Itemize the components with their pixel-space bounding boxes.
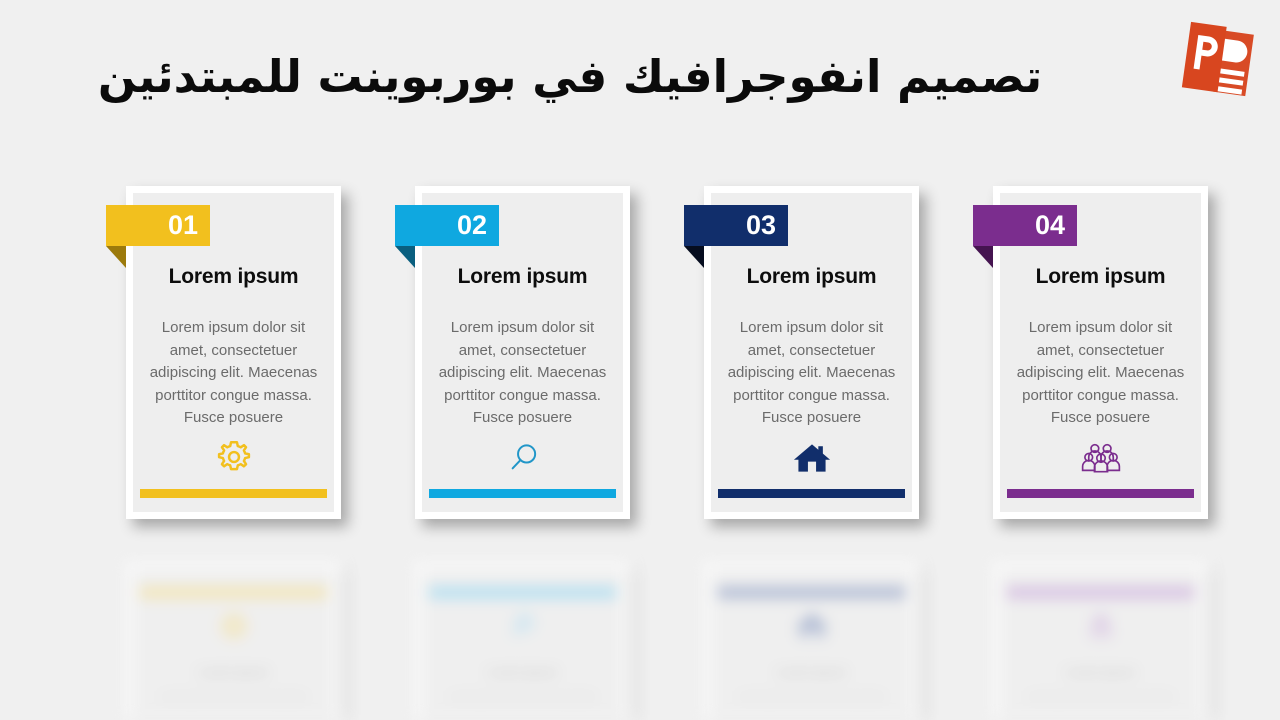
home-icon <box>711 436 912 476</box>
blurred-card-title: Lorem ipsum <box>133 667 334 679</box>
blurred-preview-row: Lorem ipsum Lorem ipsum dolor sit amet, … <box>0 556 1280 720</box>
card-accent-bar <box>1007 489 1194 498</box>
blurred-card-description: Lorem ipsum dolor sit amet, consectetuer <box>729 691 894 702</box>
card-number: 04 <box>1035 212 1065 239</box>
page-title: تصميم انفوجرافيك في بوربوينت للمبتدئين <box>0 50 1140 103</box>
ribbon-fold <box>395 246 415 268</box>
card-title: Lorem ipsum <box>711 265 912 289</box>
card-description: Lorem ipsum dolor sit amet, consectetuer… <box>434 317 611 430</box>
card-description: Lorem ipsum dolor sit amet, consectetuer… <box>1012 317 1189 430</box>
card-description: Lorem ipsum dolor sit amet, consectetuer… <box>723 317 900 430</box>
blurred-preview-card-2: Lorem ipsum Lorem ipsum dolor sit amet, … <box>415 562 630 720</box>
blurred-card-description: Lorem ipsum dolor sit amet, consectetuer <box>151 691 316 702</box>
blurred-accent-bar <box>429 587 616 598</box>
blurred-home-icon <box>711 609 912 641</box>
search-icon <box>422 436 623 476</box>
card-number-ribbon: 01 <box>106 205 210 246</box>
infographic-card-3[interactable]: Lorem ipsum Lorem ipsum dolor sit amet, … <box>704 186 919 519</box>
blurred-card-title: Lorem ipsum <box>422 667 623 679</box>
blurred-card-title: Lorem ipsum <box>711 667 912 679</box>
card-title: Lorem ipsum <box>422 265 623 289</box>
card-number: 01 <box>168 212 198 239</box>
card-number-ribbon: 03 <box>684 205 788 246</box>
slide-header: تصميم انفوجرافيك في بوربوينت للمبتدئين <box>0 0 1280 140</box>
blurred-gear-icon <box>133 609 334 643</box>
blurred-people-group-icon <box>1000 609 1201 641</box>
infographic-card-4[interactable]: Lorem ipsum Lorem ipsum dolor sit amet, … <box>993 186 1208 519</box>
gear-icon <box>133 436 334 476</box>
powerpoint-logo <box>1172 14 1264 106</box>
blurred-accent-bar <box>718 587 905 598</box>
card-title: Lorem ipsum <box>133 265 334 289</box>
blurred-card-title: Lorem ipsum <box>1000 667 1201 679</box>
card-title: Lorem ipsum <box>1000 265 1201 289</box>
card-description: Lorem ipsum dolor sit amet, consectetuer… <box>145 317 322 430</box>
blurred-preview-card-1: Lorem ipsum Lorem ipsum dolor sit amet, … <box>126 562 341 720</box>
blurred-search-icon <box>422 609 623 643</box>
blurred-preview-card-3: Lorem ipsum Lorem ipsum dolor sit amet, … <box>704 562 919 720</box>
blurred-preview-card-4: Lorem ipsum Lorem ipsum dolor sit amet, … <box>993 562 1208 720</box>
blurred-card-description: Lorem ipsum dolor sit amet, consectetuer <box>1018 691 1183 702</box>
card-accent-bar <box>718 489 905 498</box>
card-accent-bar <box>429 489 616 498</box>
card-number: 03 <box>746 212 776 239</box>
ribbon-fold <box>684 246 704 268</box>
blurred-card-description: Lorem ipsum dolor sit amet, consectetuer <box>440 691 605 702</box>
ribbon-fold <box>973 246 993 268</box>
card-accent-bar <box>140 489 327 498</box>
blurred-card-panel: Lorem ipsum Lorem ipsum dolor sit amet, … <box>711 569 912 720</box>
card-number-ribbon: 04 <box>973 205 1077 246</box>
infographic-card-row: Lorem ipsum Lorem ipsum dolor sit amet, … <box>0 186 1280 526</box>
card-number-ribbon: 02 <box>395 205 499 246</box>
infographic-card-1[interactable]: Lorem ipsum Lorem ipsum dolor sit amet, … <box>126 186 341 519</box>
people-group-icon <box>1000 436 1201 476</box>
infographic-card-2[interactable]: Lorem ipsum Lorem ipsum dolor sit amet, … <box>415 186 630 519</box>
ribbon-fold <box>106 246 126 268</box>
blurred-card-panel: Lorem ipsum Lorem ipsum dolor sit amet, … <box>422 569 623 720</box>
blurred-accent-bar <box>140 587 327 598</box>
card-number: 02 <box>457 212 487 239</box>
blurred-accent-bar <box>1007 587 1194 598</box>
blurred-card-panel: Lorem ipsum Lorem ipsum dolor sit amet, … <box>1000 569 1201 720</box>
blurred-card-panel: Lorem ipsum Lorem ipsum dolor sit amet, … <box>133 569 334 720</box>
slide-canvas: { "header": { "title": "تصميم انفوجرافيك… <box>0 0 1280 720</box>
